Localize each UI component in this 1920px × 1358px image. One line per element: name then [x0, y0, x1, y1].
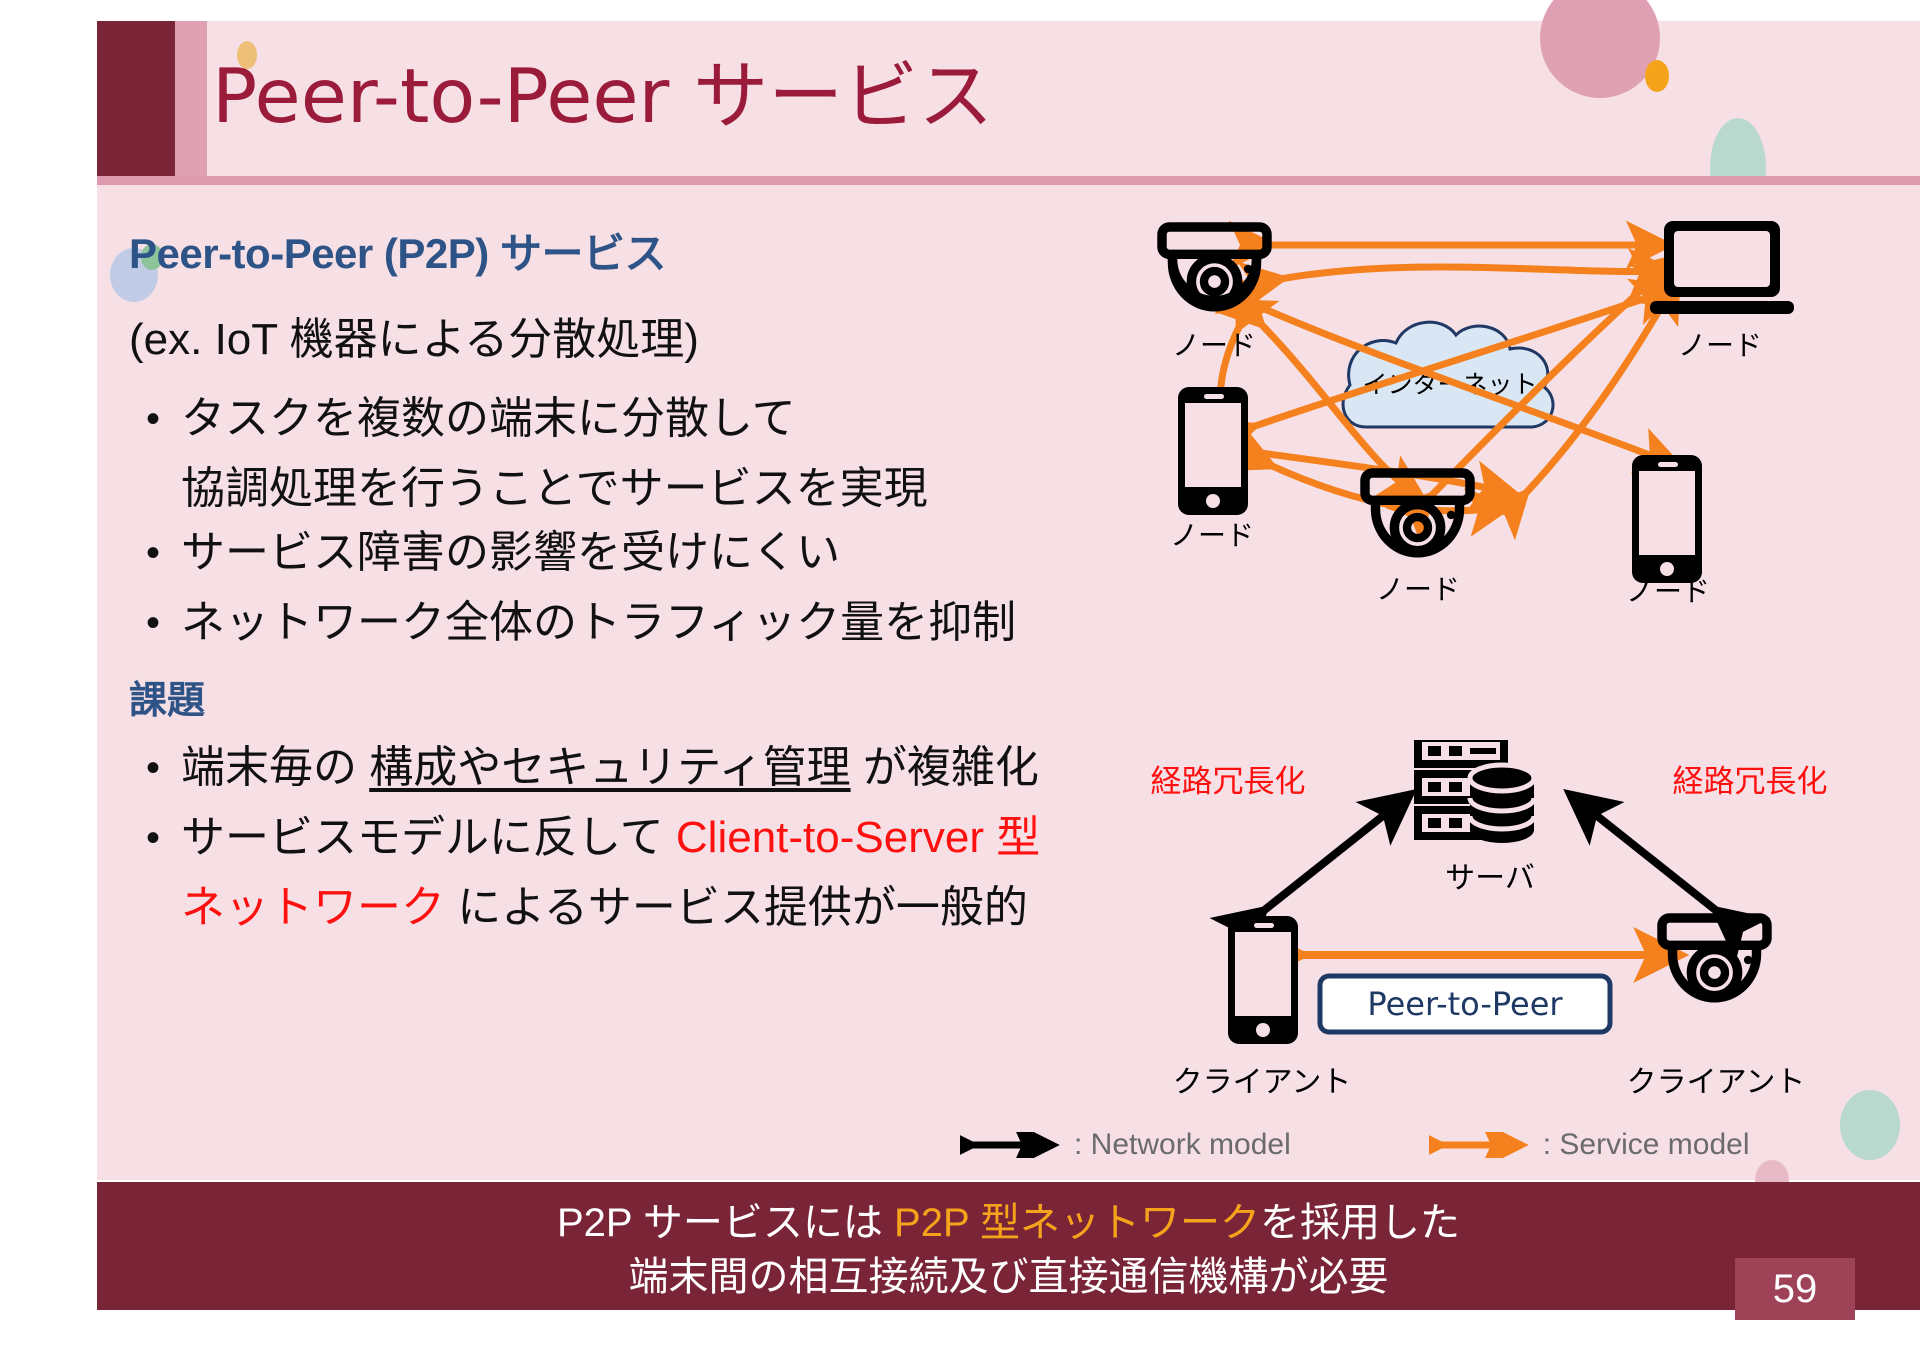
bullet-text: 端末毎の 構成やセキュリティ管理 が複雑化 — [181, 736, 1039, 800]
legend-item-network-model: : Network model — [960, 1128, 1291, 1162]
legend-item-service-model: : Service model — [1429, 1128, 1750, 1162]
p2p-box-label: Peer-to-Peer — [1367, 985, 1563, 1023]
section-heading-issues: 課題 — [129, 669, 1185, 724]
bullet-text-continuation: ネットワーク によるサービス提供が一般的 — [181, 876, 1185, 940]
redundancy-label-right: 経路冗長化 — [1673, 764, 1828, 800]
phone-node-icon-bottom-right — [1632, 455, 1702, 583]
header-accent-bar-secondary — [175, 21, 207, 182]
bullet-dot-icon: • — [125, 521, 181, 585]
footer-line1-prefix: P2P サービスには — [557, 1201, 894, 1245]
bullet-text: サービス障害の影響を受けにくい — [181, 521, 840, 585]
phone-client-icon-left — [1228, 916, 1298, 1044]
legend-label-service-model: : Service model — [1543, 1128, 1750, 1162]
footer-line1-suffix: を採用した — [1260, 1201, 1460, 1245]
camera-node-icon-top-left — [1162, 227, 1267, 307]
redundancy-label-left: 経路冗長化 — [1151, 764, 1306, 800]
footer-line-2: 端末間の相互接続及び直接通信機構が必要 — [97, 1250, 1920, 1304]
decorative-circle-orange — [1645, 60, 1669, 92]
issue-text-suffix: が複雑化 — [851, 743, 1039, 792]
slide: Peer-to-Peer サービス Peer-to-Peer (P2P) サービ… — [0, 0, 1920, 1358]
diagram-client-server: サーバ 経路冗長化 経路冗長化 Peer-to-Peer — [1150, 740, 1830, 1140]
issue2-text-prefix: サービスモデルに反して — [181, 813, 676, 862]
header-accent-bar — [97, 21, 175, 182]
legend: : Network model : Service model — [960, 1120, 1860, 1170]
node-label-top-left: ノード — [1172, 329, 1256, 362]
phone-node-icon-left — [1178, 387, 1248, 515]
issue-text-prefix: 端末毎の — [181, 743, 369, 792]
service-model-arrow-icon — [1429, 1132, 1529, 1158]
list-item: • ネットワーク全体のトラフィック量を抑制 — [125, 591, 1185, 655]
issue-text-underlined: 構成やセキュリティ管理 — [369, 743, 850, 792]
issue2-text-highlight-2: ネットワーク — [181, 883, 445, 932]
issue2-text-suffix: によるサービス提供が一般的 — [445, 883, 1028, 932]
subtitle-example: (ex. IoT 機器による分散処理) — [129, 303, 1185, 367]
page-number: 59 — [1735, 1258, 1855, 1320]
server-label: サーバ — [1445, 861, 1535, 896]
bullet-dot-icon: • — [125, 736, 181, 800]
content-column: Peer-to-Peer (P2P) サービス (ex. IoT 機器による分散… — [125, 220, 1185, 940]
bullet-dot-icon: • — [125, 591, 181, 655]
issue2-text-highlight-1: Client-to-Server 型 — [676, 813, 1040, 862]
p2p-label-box: Peer-to-Peer — [1320, 976, 1610, 1032]
bullet-text: タスクを複数の端末に分散して — [181, 387, 796, 451]
footer-line-1: P2P サービスには P2P 型ネットワークを採用した — [97, 1196, 1920, 1250]
node-label-bottom-center: ノード — [1376, 573, 1460, 606]
client-label-right: クライアント — [1627, 1065, 1806, 1100]
diagram-p2p-network: インターネット — [1120, 215, 1820, 695]
footer-line1-emphasis: P2P 型ネットワーク — [894, 1201, 1260, 1245]
node-label-left: ノード — [1170, 519, 1254, 552]
bullet-dot-icon: • — [125, 387, 181, 451]
bullet-text: ネットワーク全体のトラフィック量を抑制 — [181, 591, 1016, 655]
node-label-top-right: ノード — [1678, 329, 1762, 362]
page-title: Peer-to-Peer サービス — [212, 36, 1412, 156]
list-item: • タスクを複数の端末に分散して — [125, 387, 1185, 451]
header-divider — [97, 176, 1920, 185]
server-icon — [1418, 740, 1534, 843]
list-item: • サービス障害の影響を受けにくい — [125, 521, 1185, 585]
client-label-left: クライアント — [1173, 1065, 1352, 1100]
section-heading-p2p: Peer-to-Peer (P2P) サービス — [129, 220, 1185, 281]
laptop-node-icon-top-right — [1650, 221, 1794, 314]
bullet-dot-icon: • — [125, 806, 181, 870]
list-item: • 端末毎の 構成やセキュリティ管理 が複雑化 — [125, 736, 1185, 800]
network-model-arrow-icon — [960, 1132, 1060, 1158]
bullet-text: サービスモデルに反して Client-to-Server 型 — [181, 806, 1040, 870]
bullet-text-continuation: 協調処理を行うことでサービスを実現 — [181, 457, 1185, 521]
list-item: • サービスモデルに反して Client-to-Server 型 — [125, 806, 1185, 870]
legend-label-network-model: : Network model — [1074, 1128, 1291, 1162]
node-label-bottom-right: ノード — [1626, 575, 1710, 608]
footer-summary: P2P サービスには P2P 型ネットワークを採用した 端末間の相互接続及び直接… — [97, 1196, 1920, 1304]
